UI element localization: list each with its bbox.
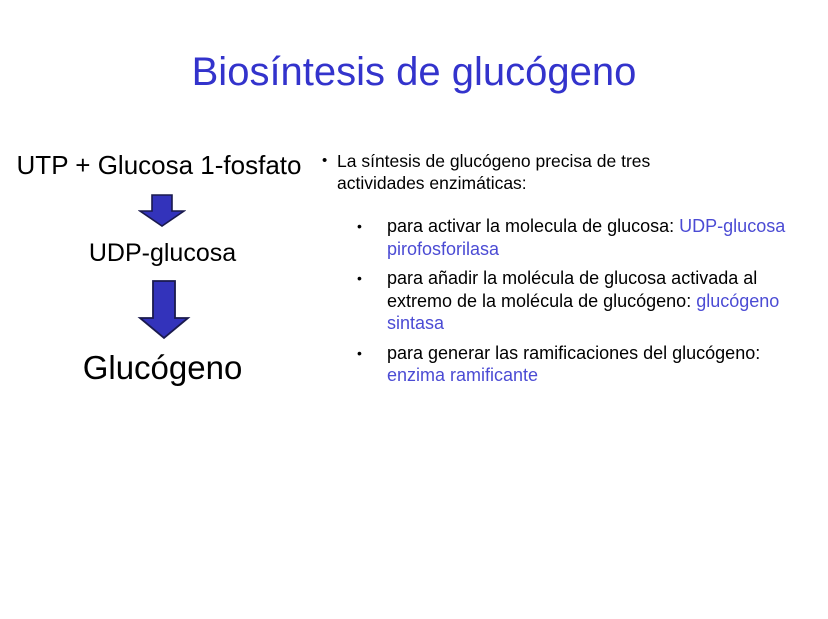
- enzyme-name: enzima ramificante: [387, 365, 538, 385]
- bullet-marker-icon: •: [318, 341, 387, 365]
- bullet-marker-icon: •: [318, 266, 387, 290]
- bullet-marker-icon: •: [318, 214, 387, 238]
- enzyme-sub-bullet-list: • para activar la molecula de glucosa: U…: [318, 214, 828, 387]
- pathway-step-intermediate: UDP-glucosa: [0, 238, 325, 268]
- pathway-step-product: Glucógeno: [0, 348, 325, 388]
- bullet-marker-icon: •: [318, 150, 337, 172]
- list-item-body: para añadir la molécula de glucosa activ…: [387, 266, 811, 335]
- lead-bullet-text: La síntesis de glucógeno precisa de tres…: [337, 150, 737, 194]
- page-title: Biosíntesis de glucógeno: [0, 49, 828, 95]
- list-item-body: para activar la molecula de glucosa: UDP…: [387, 214, 811, 260]
- down-arrow-1: [138, 194, 186, 228]
- slide-canvas: Biosíntesis de glucógeno UTP + Glucosa 1…: [0, 0, 828, 619]
- list-item-body: para generar las ramificaciones del gluc…: [387, 341, 811, 387]
- list-item-text: para generar las ramificaciones del gluc…: [387, 343, 760, 363]
- list-item: • para activar la molecula de glucosa: U…: [318, 214, 828, 260]
- list-item-text: para activar la molecula de glucosa:: [387, 216, 679, 236]
- lead-bullet-item: • La síntesis de glucógeno precisa de tr…: [318, 150, 828, 194]
- pathway-step-substrate: UTP + Glucosa 1-fosfato: [0, 150, 318, 181]
- enzyme-list-panel: • La síntesis de glucógeno precisa de tr…: [318, 150, 828, 403]
- down-arrow-2: [137, 280, 191, 340]
- list-item: • para generar las ramificaciones del gl…: [318, 341, 828, 387]
- list-item: • para añadir la molécula de glucosa act…: [318, 266, 828, 335]
